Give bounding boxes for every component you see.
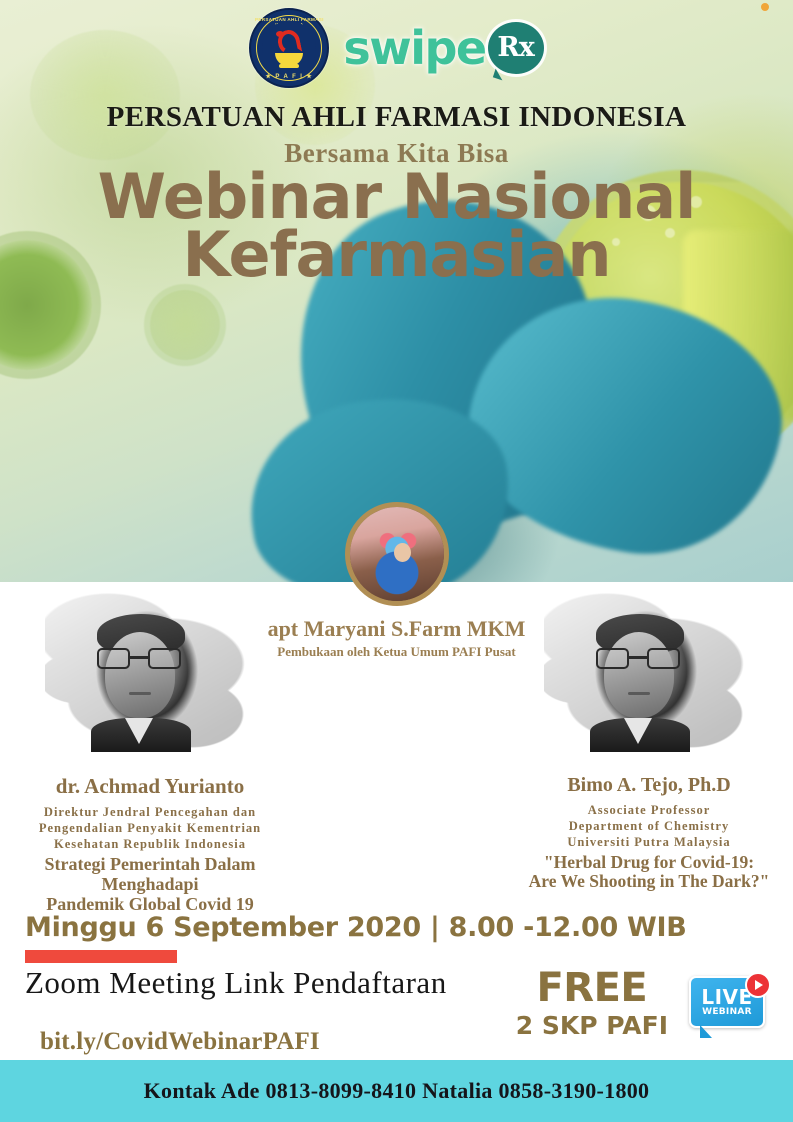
speaker-affiliation: Direktur Jendral Pencegahan dan Pengenda… <box>0 804 300 852</box>
snake-and-bowl-icon <box>269 28 309 68</box>
play-triangle-icon <box>755 980 763 990</box>
affiliation-line: Direktur Jendral Pencegahan dan <box>0 804 300 820</box>
affiliation-line: Universiti Putra Malaysia <box>499 834 793 850</box>
live-label: LIVE <box>701 987 752 1007</box>
avatar <box>345 502 449 606</box>
speaker-affiliation: Associate Professor Department of Chemis… <box>499 802 793 850</box>
pafi-logo-emblem <box>262 21 316 75</box>
affiliation-line: Associate Professor <box>499 802 793 818</box>
shirt-shape <box>624 718 652 744</box>
center-speaker-name: apt Maryani S.Farm MKM <box>0 616 793 642</box>
swiperx-logo-icon: swipe Rx <box>343 22 543 74</box>
bowl-base-icon <box>279 64 299 68</box>
contact-footer-bar: Kontak Ade 0813-8099-8410 Natalia 0858-3… <box>0 1060 793 1122</box>
title-line-2: Kefarmasian <box>0 226 793 284</box>
registration-link[interactable]: bit.ly/CovidWebinarPAFI <box>40 1028 320 1056</box>
topic-line: Strategi Pemerintah Dalam Menghadapi <box>0 855 300 895</box>
event-date-time: Minggu 6 September 2020 | 8.00 -12.00 WI… <box>25 912 687 943</box>
snake-head-icon <box>276 31 284 37</box>
speaker-topic: "Herbal Drug for Covid-19: Are We Shooti… <box>499 853 793 892</box>
speaker-name: dr. Achmad Yurianto <box>0 774 300 799</box>
affiliation-line: Department of Chemistry <box>499 818 793 834</box>
rx-label: Rx <box>497 34 534 61</box>
center-speaker: apt Maryani S.Farm MKM Pembukaan oleh Ke… <box>0 502 793 660</box>
contact-text: Kontak Ade 0813-8099-8410 Natalia 0858-3… <box>144 1078 650 1104</box>
speaker-name: Bimo A. Tejo, Ph.D <box>499 774 793 797</box>
price-label: FREE <box>516 968 668 1008</box>
mouth-shape <box>129 692 151 695</box>
pafi-logo-icon: PERSATUAN AHLI FARMASI INDONESIA ★ P A F… <box>249 8 329 88</box>
logo-bar: PERSATUAN AHLI FARMASI INDONESIA ★ P A F… <box>0 0 793 95</box>
webinar-poster: PERSATUAN AHLI FARMASI INDONESIA ★ P A F… <box>0 0 793 1122</box>
rx-speech-bubble-icon: Rx <box>488 22 544 74</box>
mouth-shape <box>628 692 650 695</box>
center-speaker-face <box>394 543 411 562</box>
shirt-shape <box>125 718 153 744</box>
virus-particle-icon <box>150 290 220 360</box>
live-webinar-badge: LIVE WEBINAR <box>685 972 773 1042</box>
credits-label: 2 SKP PAFI <box>516 1013 668 1038</box>
affiliation-line: Kesehatan Republik Indonesia <box>0 836 300 852</box>
affiliation-line: Pengendalian Penyakit Kementrian <box>0 820 300 836</box>
page-title: Webinar Nasional Kefarmasian <box>0 168 793 285</box>
speaker-topic: Strategi Pemerintah Dalam Menghadapi Pan… <box>0 855 300 914</box>
swipe-i-dot-icon <box>761 3 769 11</box>
red-underline-bar <box>25 950 177 963</box>
organization-name: PERSATUAN AHLI FARMASI INDONESIA <box>0 101 793 134</box>
play-button-icon <box>745 972 771 998</box>
platform-registration-label: Zoom Meeting Link Pendaftaran <box>25 965 447 1001</box>
webinar-label: WEBINAR <box>702 1008 752 1017</box>
pafi-logo-bottom-text: ★ P A F I ★ <box>251 73 327 80</box>
price-block: FREE 2 SKP PAFI <box>516 968 668 1038</box>
swipe-wordmark: swipe <box>343 25 485 71</box>
topic-line: Are We Shooting in The Dark?" <box>499 872 793 891</box>
center-speaker-role: Pembukaan oleh Ketua Umum PAFI Pusat <box>0 644 793 660</box>
topic-line: "Herbal Drug for Covid-19: <box>499 853 793 872</box>
